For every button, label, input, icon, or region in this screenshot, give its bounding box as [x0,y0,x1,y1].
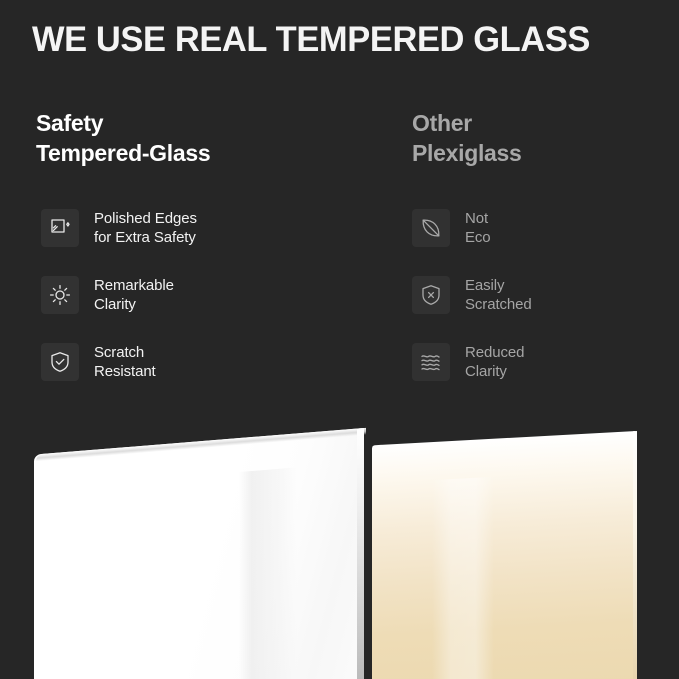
tempered-glass-panel-highlight [239,467,297,679]
infographic-page: WE USE REAL TEMPERED GLASS Safety Temper… [0,0,679,679]
shield-x-icon [412,276,450,314]
feature-label-remarkable-clarity: Remarkable Clarity [94,276,174,314]
feature-list-plexiglass: Not Eco Easily Scratched [412,206,677,384]
shield-check-icon [41,343,79,381]
feature-scratch-resistant: Scratch Resistant [41,340,366,384]
feature-polished-edges: Polished Edges for Extra Safety [41,206,366,250]
polished-edge-sparkle-icon [41,209,79,247]
column-plexiglass: Other Plexiglass Not Eco [412,108,677,407]
leaf-slash-icon [412,209,450,247]
page-title: WE USE REAL TEMPERED GLASS [32,20,643,60]
column-heading-tempered-glass: Safety Tempered-Glass [36,108,366,168]
feature-label-scratch-resistant: Scratch Resistant [94,343,156,381]
feature-label-polished-edges: Polished Edges for Extra Safety [94,209,197,247]
tempered-glass-panel-edge [357,428,364,679]
column-tempered-glass: Safety Tempered-Glass Polished Edges for… [36,108,366,407]
tempered-glass-panel-bevel [36,428,366,462]
plexiglass-panel-highlight [432,477,494,679]
feature-list-tempered-glass: Polished Edges for Extra Safety Remarkab… [41,206,366,384]
feature-label-not-eco: Not Eco [465,209,491,247]
feature-remarkable-clarity: Remarkable Clarity [41,273,366,317]
tempered-glass-panel [34,428,364,679]
feature-label-reduced-clarity: Reduced Clarity [465,343,524,381]
feature-label-easily-scratched: Easily Scratched [465,276,532,314]
feature-not-eco: Not Eco [412,206,677,250]
product-comparison-photo [0,398,679,679]
plexiglass-panel-edge [633,431,637,679]
plexiglass-panel [372,431,637,679]
wavy-lines-icon [412,343,450,381]
sun-clarity-icon [41,276,79,314]
column-heading-plexiglass: Other Plexiglass [412,108,677,168]
feature-easily-scratched: Easily Scratched [412,273,677,317]
feature-reduced-clarity: Reduced Clarity [412,340,677,384]
